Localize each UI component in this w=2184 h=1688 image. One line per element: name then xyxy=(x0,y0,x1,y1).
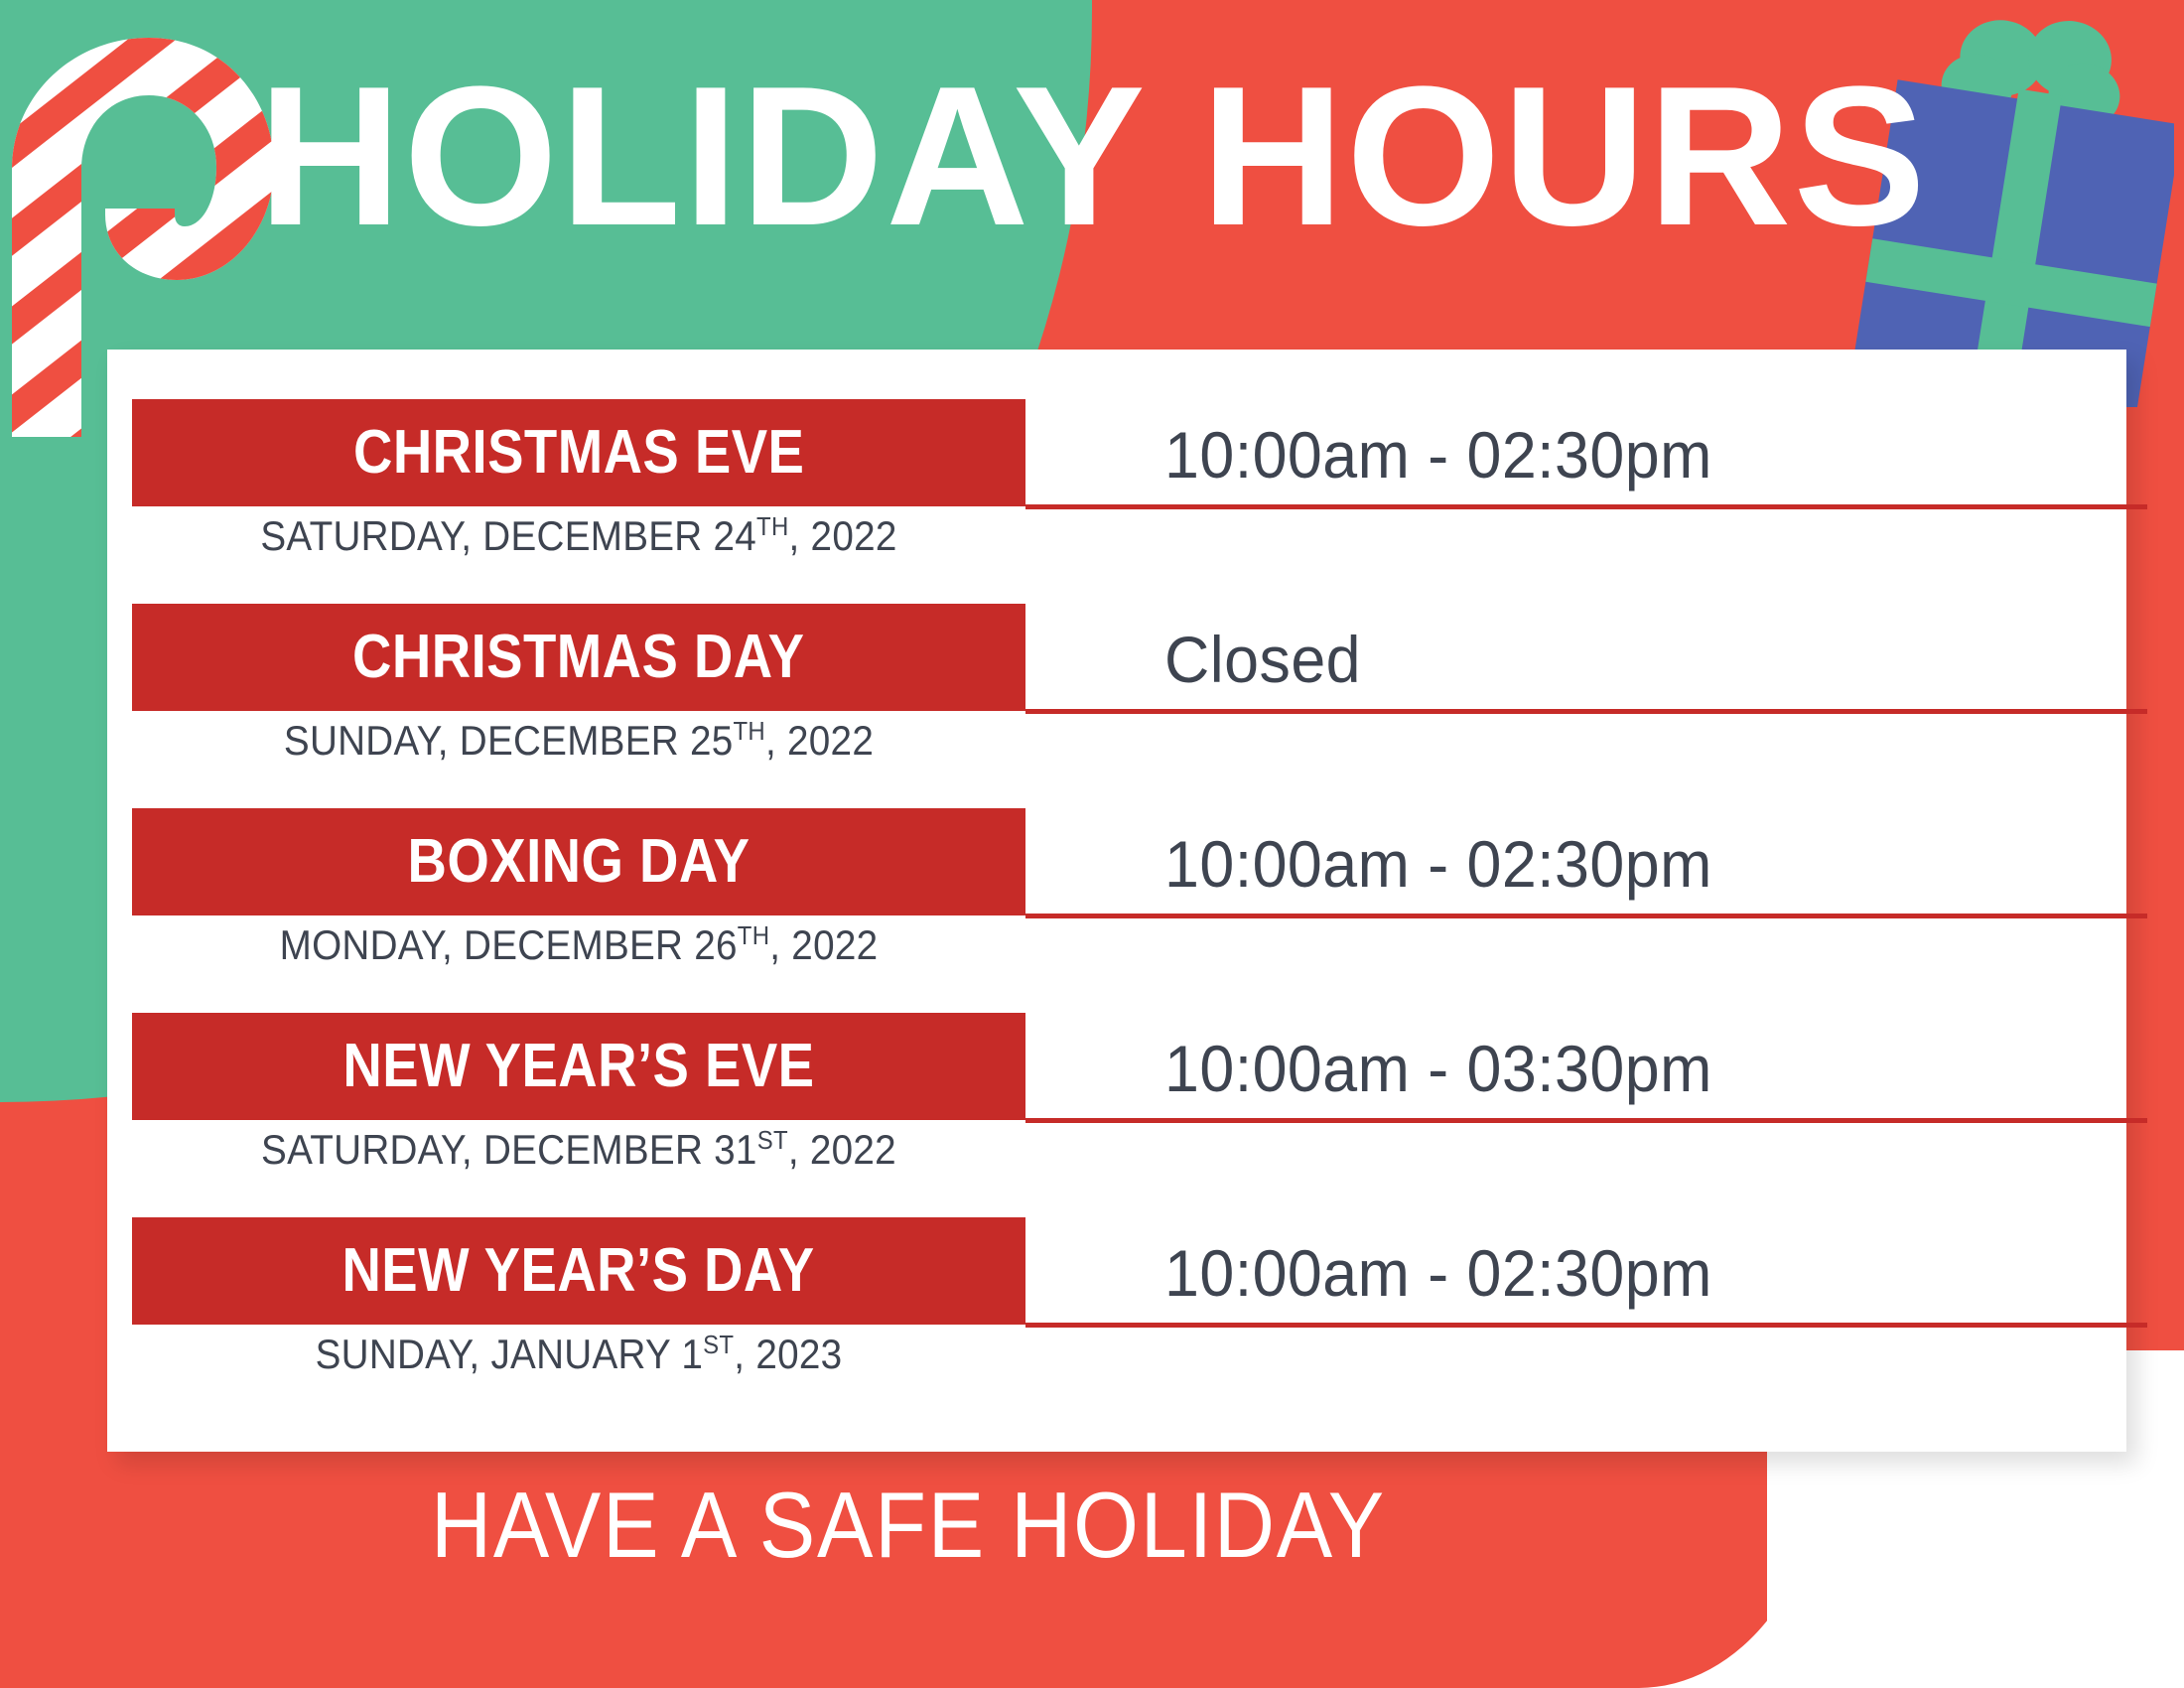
date-ordinal-suffix: TH xyxy=(738,920,769,950)
holiday-label-bar: BOXING DAY xyxy=(132,808,1025,915)
holiday-name: NEW YEAR’S DAY xyxy=(342,1240,815,1302)
holiday-date: SUNDAY, DECEMBER 25TH, 2022 xyxy=(168,717,990,765)
holiday-hours-text: Closed xyxy=(1164,622,1361,697)
date-ordinal-suffix: TH xyxy=(734,716,765,746)
date-prefix: MONDAY, DECEMBER 26 xyxy=(280,921,738,968)
schedule-row: CHRISTMAS EVE SATURDAY, DECEMBER 24TH, 2… xyxy=(107,395,2126,600)
holiday-hours-text: 10:00am - 02:30pm xyxy=(1164,417,1712,492)
holiday-name: NEW YEAR’S EVE xyxy=(342,1036,814,1097)
holiday-label-bar: NEW YEAR’S DAY xyxy=(132,1217,1025,1325)
holiday-date: SATURDAY, DECEMBER 24TH, 2022 xyxy=(168,512,990,560)
schedule-row: CHRISTMAS DAY SUNDAY, DECEMBER 25TH, 202… xyxy=(107,600,2126,804)
date-prefix: SUNDAY, JANUARY 1 xyxy=(316,1331,704,1377)
date-prefix: SUNDAY, DECEMBER 25 xyxy=(284,717,734,764)
date-year: , 2022 xyxy=(788,1126,896,1173)
date-ordinal-suffix: ST xyxy=(703,1330,734,1359)
holiday-hours: Closed xyxy=(1164,600,2147,719)
schedule-row: BOXING DAY MONDAY, DECEMBER 26TH, 2022 1… xyxy=(107,804,2126,1009)
holiday-hours: 10:00am - 03:30pm xyxy=(1164,1009,2147,1128)
holiday-name: CHRISTMAS DAY xyxy=(352,627,804,688)
holiday-name: BOXING DAY xyxy=(408,831,751,893)
schedule-card: CHRISTMAS EVE SATURDAY, DECEMBER 24TH, 2… xyxy=(107,350,2126,1452)
holiday-hours-text: 10:00am - 02:30pm xyxy=(1164,1235,1712,1311)
holiday-label-bar: CHRISTMAS EVE xyxy=(132,399,1025,506)
date-prefix: SATURDAY, DECEMBER 31 xyxy=(261,1126,757,1173)
date-year: , 2022 xyxy=(769,921,878,968)
date-prefix: SATURDAY, DECEMBER 24 xyxy=(260,512,756,559)
date-year: , 2022 xyxy=(765,717,874,764)
holiday-hours-text: 10:00am - 02:30pm xyxy=(1164,826,1712,902)
holiday-label-bar: NEW YEAR’S EVE xyxy=(132,1013,1025,1120)
holiday-hours: 10:00am - 02:30pm xyxy=(1164,804,2147,923)
holiday-date: SATURDAY, DECEMBER 31ST, 2022 xyxy=(168,1126,990,1174)
schedule-row: NEW YEAR’S DAY SUNDAY, JANUARY 1ST, 2023… xyxy=(107,1213,2126,1418)
holiday-date: SUNDAY, JANUARY 1ST, 2023 xyxy=(168,1331,990,1378)
date-year: , 2022 xyxy=(789,512,897,559)
schedule-row: NEW YEAR’S EVE SATURDAY, DECEMBER 31ST, … xyxy=(107,1009,2126,1213)
holiday-date: MONDAY, DECEMBER 26TH, 2022 xyxy=(168,921,990,969)
footer-message: HAVE A SAFE HOLIDAY xyxy=(91,1472,1726,1579)
holiday-hours-text: 10:00am - 03:30pm xyxy=(1164,1031,1712,1106)
date-ordinal-suffix: ST xyxy=(757,1125,788,1155)
page-title: HOLIDAY HOURS xyxy=(0,58,2184,256)
schedule-rows: CHRISTMAS EVE SATURDAY, DECEMBER 24TH, 2… xyxy=(107,350,2126,1418)
holiday-label-bar: CHRISTMAS DAY xyxy=(132,604,1025,711)
holiday-hours: 10:00am - 02:30pm xyxy=(1164,1213,2147,1333)
date-ordinal-suffix: TH xyxy=(756,511,788,541)
holiday-hours: 10:00am - 02:30pm xyxy=(1164,395,2147,514)
holiday-name: CHRISTMAS EVE xyxy=(353,422,804,484)
date-year: , 2023 xyxy=(734,1331,842,1377)
holiday-hours-poster: HOLIDAY HOURS CHRISTMAS EVE SATURDAY, DE… xyxy=(0,0,2184,1688)
